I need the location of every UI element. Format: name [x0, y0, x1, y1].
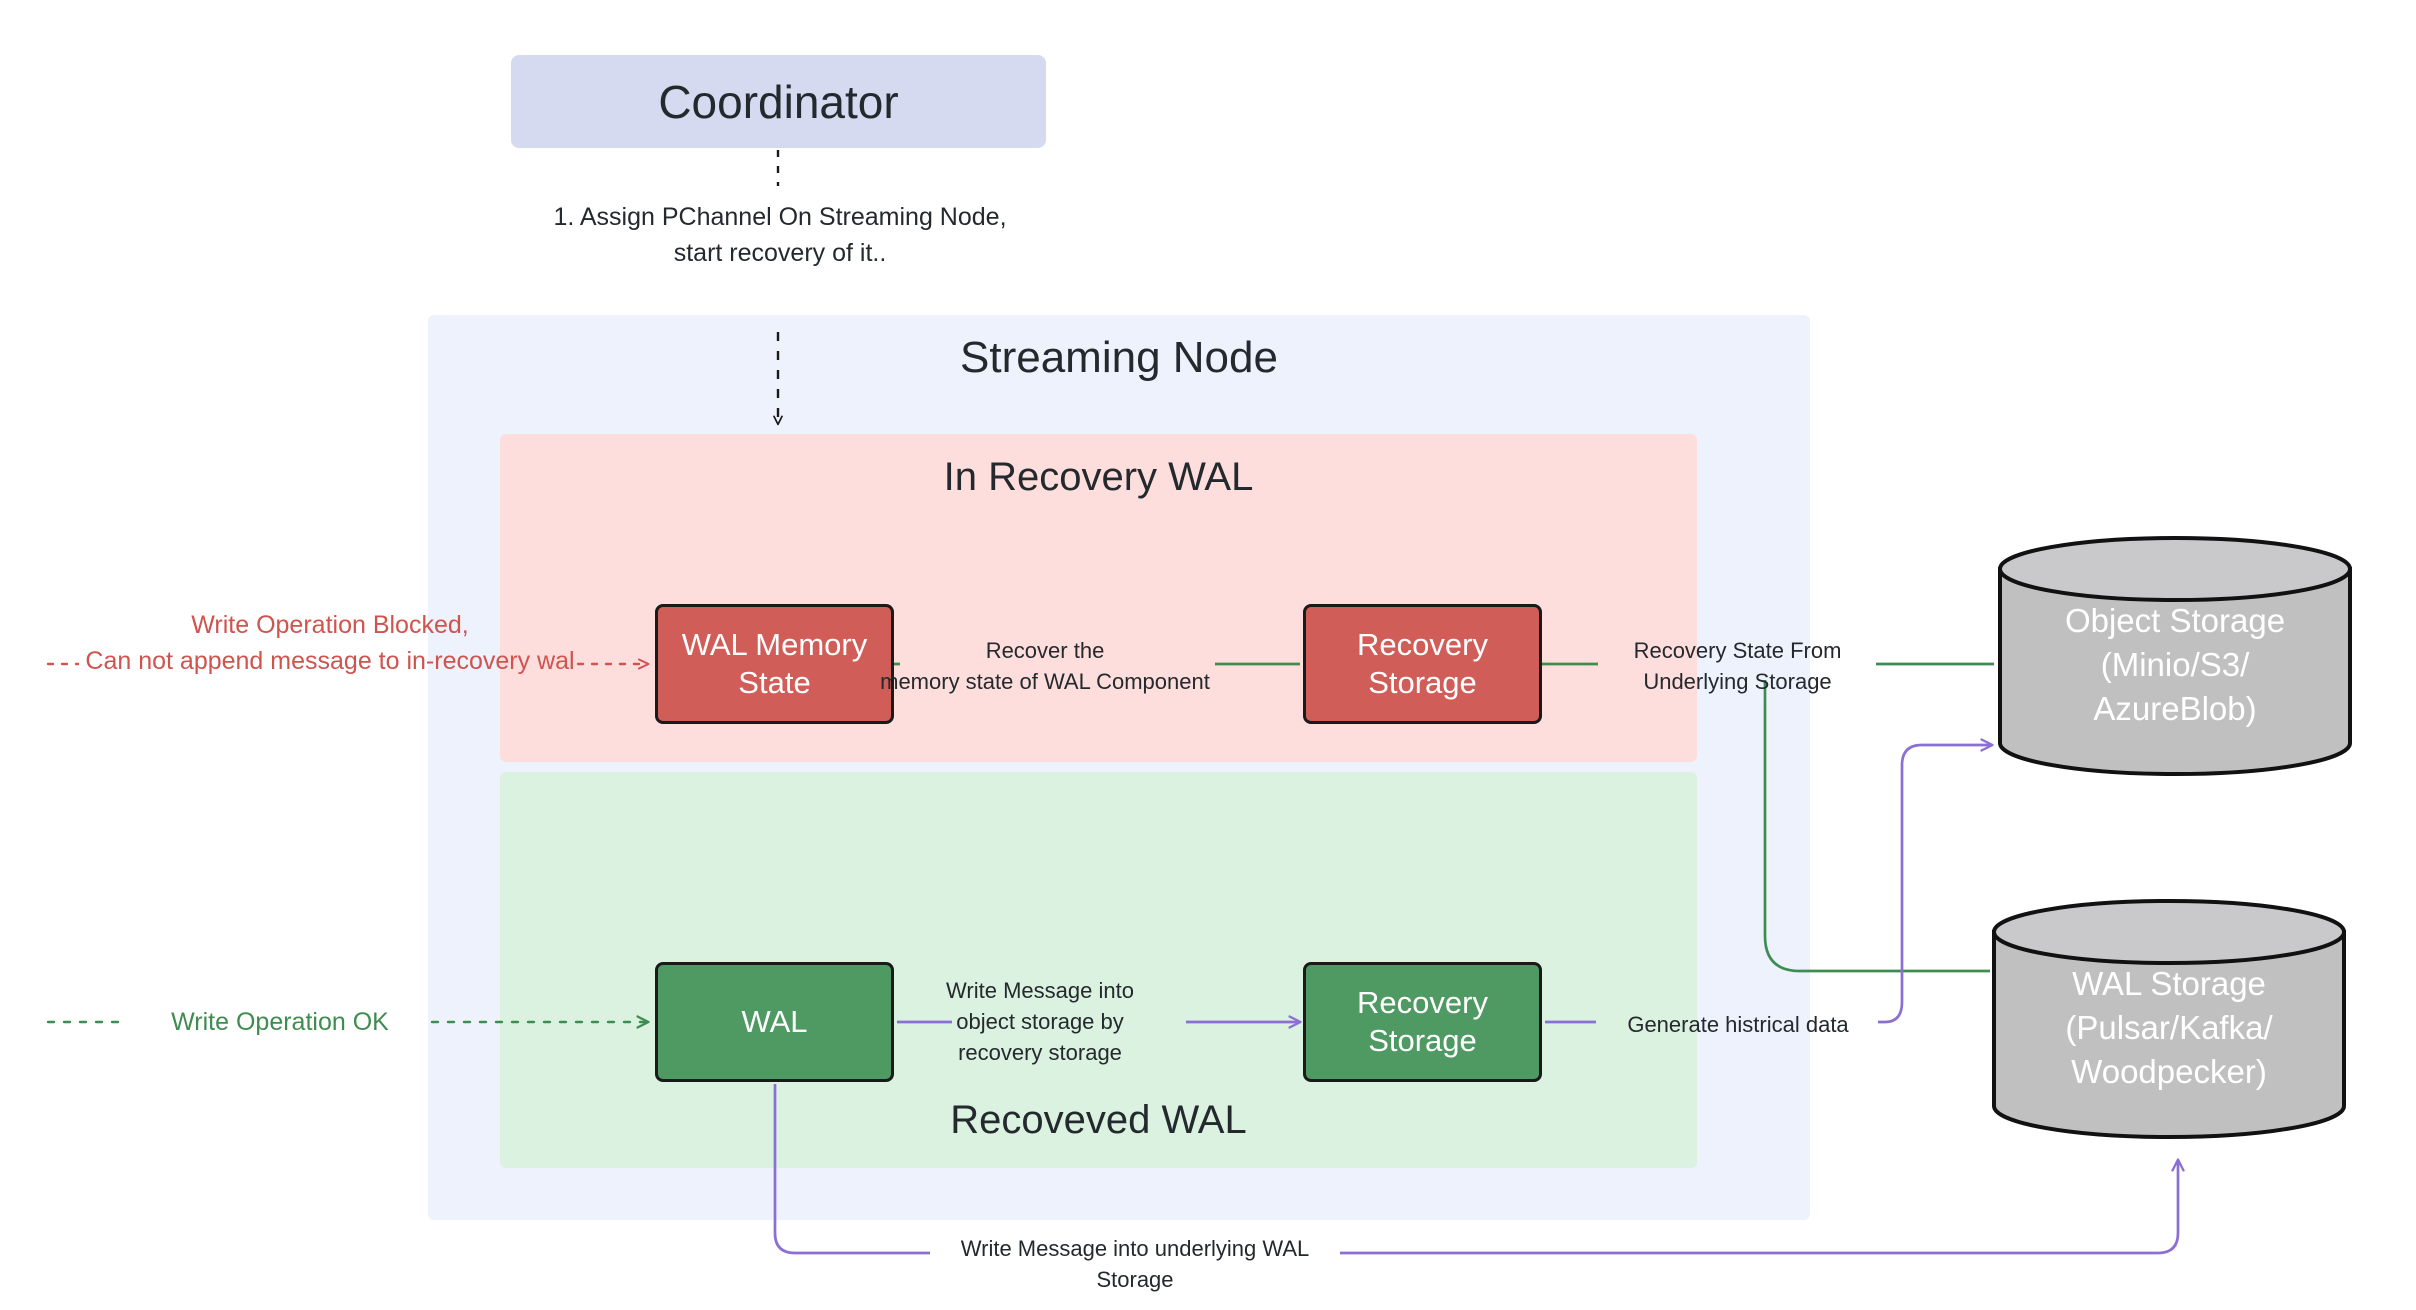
edge-label-write-blocked: Write Operation Blocked, Can not append … [80, 608, 580, 679]
object-storage-label: Object Storage (Minio/S3/ AzureBlob) [2065, 581, 2285, 731]
recovery-storage-in-recovery-label: Recovery Storage [1316, 626, 1529, 702]
edge-label-write-message-object-storage: Write Message into object storage by rec… [900, 975, 1180, 1069]
wal-node[interactable]: WAL [655, 962, 894, 1082]
edge-label-assign-pchannel: 1. Assign PChannel On Streaming Node, st… [485, 200, 1075, 271]
recovered-wal-title: Recoveved WAL [500, 1098, 1697, 1143]
object-storage-node[interactable]: Object Storage (Minio/S3/ AzureBlob) [1996, 535, 2354, 777]
edge-label-recover-memory-state: Recover the memory state of WAL Componen… [880, 635, 1210, 697]
coordinator-node[interactable]: Coordinator [511, 55, 1046, 148]
recovery-storage-recovered-node[interactable]: Recovery Storage [1303, 962, 1542, 1082]
coordinator-label: Coordinator [658, 75, 898, 129]
edge-label-recovery-state-from-storage: Recovery State From Underlying Storage [1605, 635, 1870, 697]
edge-label-write-ok: Write Operation OK [130, 1005, 430, 1041]
wal-storage-node[interactable]: WAL Storage (Pulsar/Kafka/ Woodpecker) [1990, 898, 2348, 1140]
wal-label: WAL [741, 1003, 807, 1041]
edge-label-write-message-underlying-wal: Write Message into underlying WAL Storag… [935, 1233, 1335, 1295]
streaming-node-title: Streaming Node [428, 333, 1810, 383]
wal-storage-label: WAL Storage (Pulsar/Kafka/ Woodpecker) [2065, 944, 2272, 1094]
recovery-storage-in-recovery-node[interactable]: Recovery Storage [1303, 604, 1542, 724]
recovery-storage-recovered-label: Recovery Storage [1316, 984, 1529, 1060]
wal-memory-state-label: WAL Memory State [668, 626, 881, 702]
diagram-canvas: Streaming Node In Recovery WAL Recoveved… [0, 0, 2416, 1310]
edge-label-generate-historical-data: Generate histrical data [1598, 1009, 1878, 1040]
wal-memory-state-node[interactable]: WAL Memory State [655, 604, 894, 724]
in-recovery-wal-title: In Recovery WAL [500, 455, 1697, 500]
